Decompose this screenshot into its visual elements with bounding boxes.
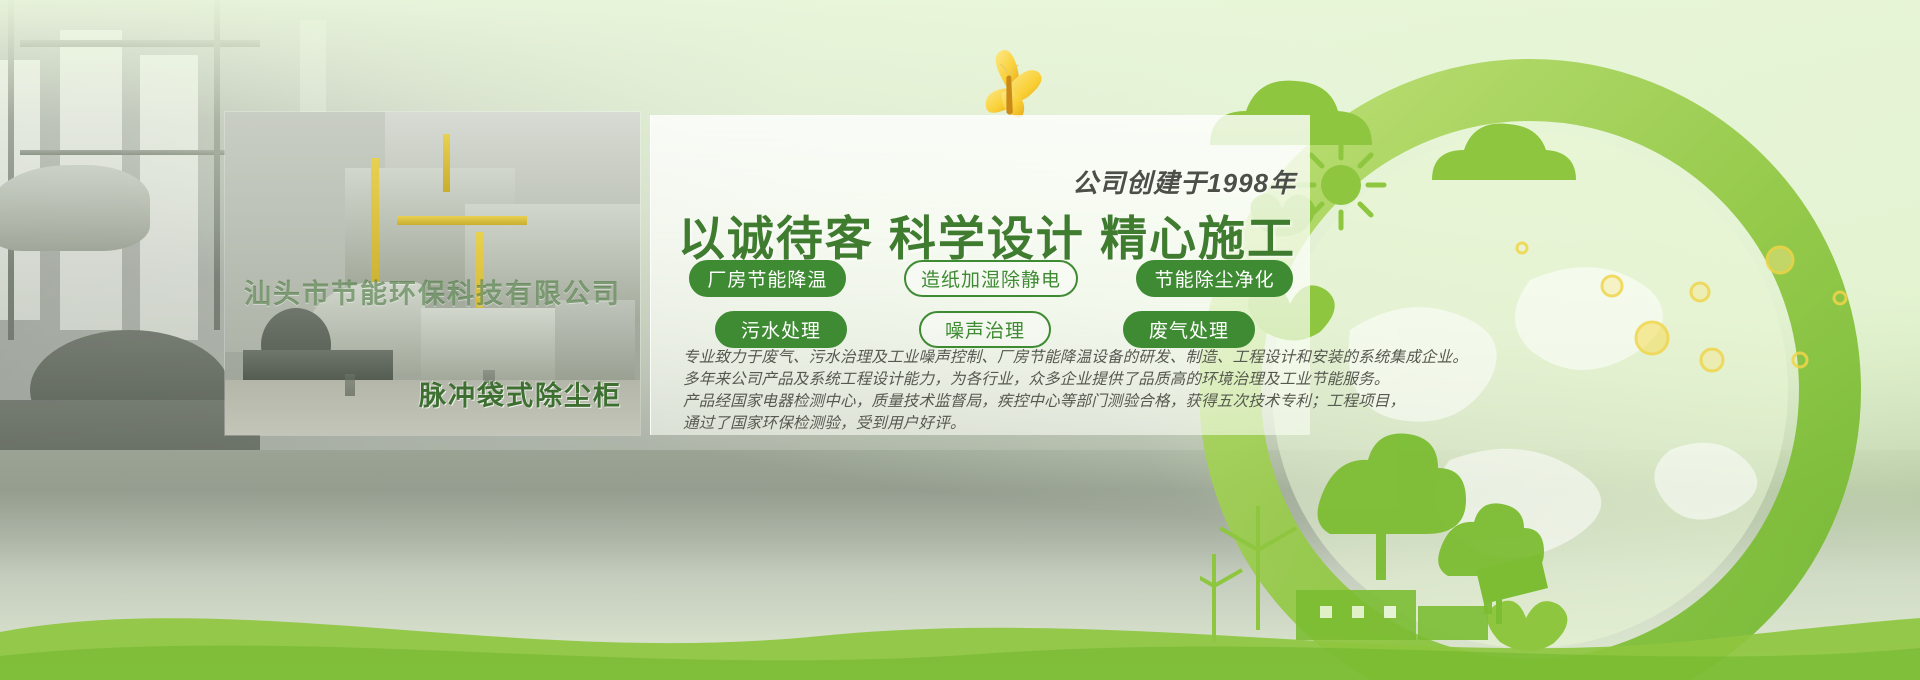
service-tag-row-1: 厂房节能降温 造纸加湿除静电 节能除尘净化 — [689, 260, 1293, 297]
wave-shape — [0, 570, 1920, 680]
service-tag-factory-cooling[interactable]: 厂房节能降温 — [689, 260, 846, 297]
photo-caption: 脉冲袋式除尘柜 — [419, 374, 622, 413]
service-tag-paper-humidify[interactable]: 造纸加湿除静电 — [904, 260, 1078, 297]
description-line-1: 专业致力于废气、污水治理及工业噪声控制、厂房节能降温设备的研发、制造、工程设计和… — [683, 347, 1305, 369]
company-founded-subtitle: 公司创建于1998年 — [1072, 163, 1296, 200]
service-tag-noise-control[interactable]: 噪声治理 — [919, 311, 1051, 348]
service-tag-sewage-treatment[interactable]: 污水处理 — [715, 311, 847, 348]
service-tag-row-2: 污水处理 噪声治理 废气处理 — [689, 311, 1293, 348]
page-title: 以诚待客 科学设计 精心施工 — [678, 200, 1296, 269]
description-line-2: 多年来公司产品及系统工程设计能力，为各行业，众多企业提供了品质高的环境治理及工业… — [683, 369, 1305, 391]
service-tag-waste-gas-treatment[interactable]: 废气处理 — [1123, 311, 1255, 348]
butterfly-icon — [968, 45, 1048, 125]
company-description: 专业致力于废气、污水治理及工业噪声控制、厂房节能降温设备的研发、制造、工程设计和… — [683, 347, 1305, 435]
eco-company-banner: 汕头市节能环保科技有限公司 脉冲袋式除尘柜 公司创建于1998年 以诚待客 科学… — [0, 0, 1920, 680]
content-card: 公司创建于1998年 以诚待客 科学设计 精心施工 厂房节能降温 造纸加湿除静电… — [650, 115, 1310, 435]
service-tag-dust-purification[interactable]: 节能除尘净化 — [1136, 260, 1293, 297]
description-line-4: 通过了国家环保检测验，受到用户好评。 — [683, 413, 1305, 435]
photo-watermark: 汕头市节能环保科技有限公司 — [244, 272, 621, 311]
product-photo: 汕头市节能环保科技有限公司 脉冲袋式除尘柜 — [225, 112, 640, 435]
description-line-3: 产品经国家电器检测中心，质量技术监督局，疾控中心等部门测验合格，获得五次技术专利… — [683, 391, 1305, 413]
